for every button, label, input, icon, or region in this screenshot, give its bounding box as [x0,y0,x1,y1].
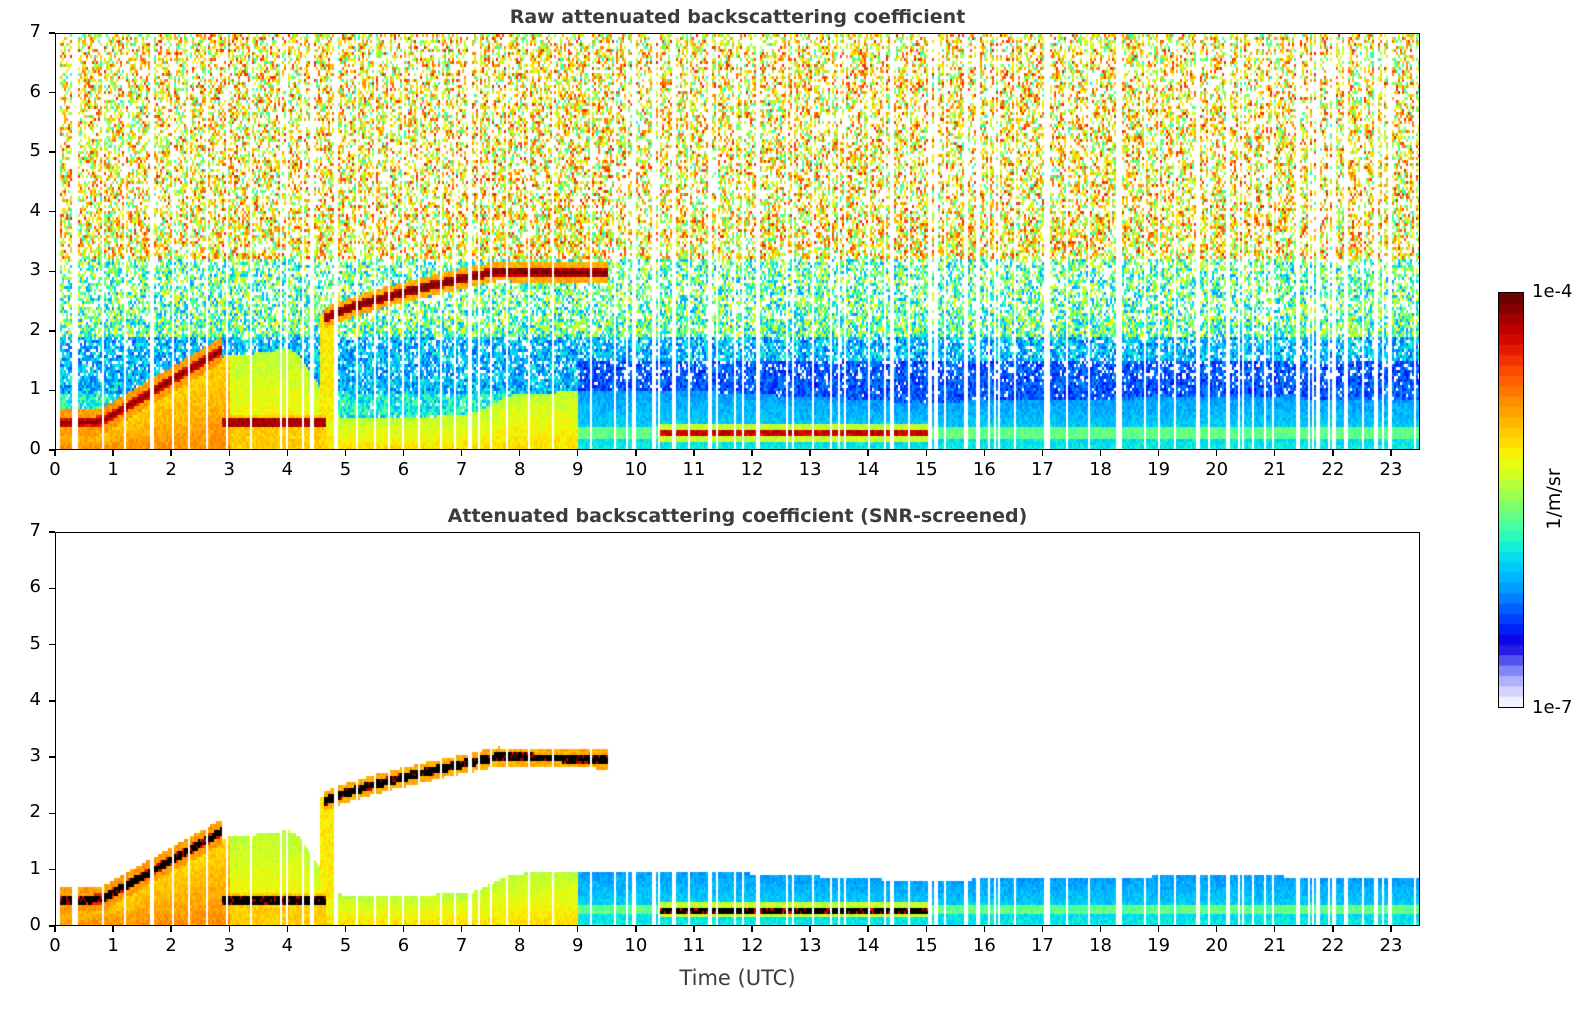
x-tick [751,450,752,456]
x-tick [54,926,55,932]
x-tick [461,926,462,932]
x-tick-label: 9 [558,935,598,956]
y-tick-label: 7 [7,520,41,541]
x-tick [287,926,288,932]
x-tick [1216,926,1217,932]
x-tick [867,926,868,932]
y-tick [49,271,55,272]
x-tick [54,450,55,456]
y-tick [49,32,55,33]
x-tick-label: 22 [1313,459,1353,480]
y-tick [49,644,55,645]
figure-canvas: Raw attenuated backscattering coefficien… [0,0,1595,1020]
x-tick [403,450,404,456]
x-tick-label: 16 [964,459,1004,480]
x-tick-label: 1 [93,935,133,956]
x-tick [345,450,346,456]
x-tick-label: 4 [267,935,307,956]
x-tick-label: 21 [1255,935,1295,956]
y-tick [49,925,55,926]
x-tick [1390,926,1391,932]
x-tick-label: 15 [906,459,946,480]
x-tick-label: 14 [848,935,888,956]
x-tick-label: 4 [267,459,307,480]
x-tick [1158,450,1159,456]
x-tick [751,926,752,932]
y-tick-label: 7 [7,21,41,42]
x-tick-label: 10 [616,459,656,480]
x-tick [1390,450,1391,456]
x-tick-label: 23 [1371,459,1411,480]
x-tick [345,926,346,932]
x-tick [1042,926,1043,932]
colorbar-tick-min: 1e-7 [1532,697,1572,718]
y-tick-label: 3 [7,259,41,280]
plot-area-snr-screened[interactable] [55,532,1420,926]
y-tick [49,588,55,589]
x-tick-label: 6 [384,935,424,956]
x-tick-label: 1 [93,459,133,480]
x-tick [809,450,810,456]
x-tick-label: 13 [790,935,830,956]
x-tick [809,926,810,932]
y-tick [49,330,55,331]
y-tick [49,211,55,212]
x-tick-label: 0 [35,935,75,956]
panel-title-raw: Raw attenuated backscattering coefficien… [55,6,1420,28]
y-tick-label: 1 [7,858,41,879]
x-tick-label: 3 [209,935,249,956]
x-tick-label: 7 [442,935,482,956]
y-tick [49,92,55,93]
x-tick-label: 22 [1313,935,1353,956]
y-tick-label: 2 [7,801,41,822]
y-tick-label: 0 [7,438,41,459]
y-tick-label: 6 [7,81,41,102]
x-tick [112,450,113,456]
x-tick [229,450,230,456]
x-tick-label: 11 [674,459,714,480]
x-tick-label: 23 [1371,935,1411,956]
x-tick-label: 14 [848,459,888,480]
x-tick [1100,450,1101,456]
x-tick-label: 12 [732,935,772,956]
x-tick-label: 8 [500,935,540,956]
x-tick [635,450,636,456]
x-tick [984,450,985,456]
x-tick [1100,926,1101,932]
x-tick [1216,450,1217,456]
x-tick-label: 17 [1022,459,1062,480]
x-tick-label: 3 [209,459,249,480]
y-tick-label: 4 [7,689,41,710]
x-tick [693,450,694,456]
x-tick [984,926,985,932]
panel-title-snr-screened: Attenuated backscattering coefficient (S… [55,505,1420,527]
x-tick [1274,926,1275,932]
y-tick [49,151,55,152]
x-tick [926,450,927,456]
plot-area-raw[interactable] [55,33,1420,450]
x-tick [519,926,520,932]
x-tick-label: 8 [500,459,540,480]
x-tick [1158,926,1159,932]
x-tick-label: 15 [906,935,946,956]
x-tick [170,450,171,456]
colorbar-unit-label: 1/m/sr [1543,439,1565,559]
x-tick-label: 18 [1081,935,1121,956]
y-tick [49,700,55,701]
colorbar [1498,292,1524,708]
x-tick-label: 12 [732,459,772,480]
y-tick [49,390,55,391]
x-tick-label: 20 [1197,935,1237,956]
y-tick-label: 2 [7,319,41,340]
x-tick [229,926,230,932]
x-tick-label: 20 [1197,459,1237,480]
x-tick-label: 19 [1139,935,1179,956]
x-tick-label: 21 [1255,459,1295,480]
x-tick-label: 9 [558,459,598,480]
x-tick-label: 16 [964,935,1004,956]
x-tick-label: 0 [35,459,75,480]
x-tick [461,450,462,456]
x-tick-label: 6 [384,459,424,480]
x-tick-label: 7 [442,459,482,480]
x-tick [287,450,288,456]
x-tick [635,926,636,932]
y-tick [49,531,55,532]
x-tick-label: 13 [790,459,830,480]
x-tick [1042,450,1043,456]
x-tick-label: 17 [1022,935,1062,956]
x-tick [1274,450,1275,456]
y-tick [49,869,55,870]
x-tick-label: 2 [151,935,191,956]
x-tick-label: 19 [1139,459,1179,480]
y-tick-label: 3 [7,745,41,766]
x-tick [693,926,694,932]
x-tick [926,926,927,932]
x-tick-label: 5 [325,935,365,956]
y-tick-label: 1 [7,378,41,399]
x-tick [403,926,404,932]
y-tick [49,813,55,814]
x-tick [519,450,520,456]
colorbar-tick-max: 1e-4 [1532,281,1572,302]
x-tick-label: 5 [325,459,365,480]
x-tick [867,450,868,456]
x-axis-label-time: Time (UTC) [55,966,1420,990]
x-tick-label: 11 [674,935,714,956]
y-tick [49,449,55,450]
x-tick-label: 10 [616,935,656,956]
x-tick-label: 18 [1081,459,1121,480]
x-tick [1332,450,1333,456]
x-tick [1332,926,1333,932]
x-tick [577,926,578,932]
y-tick-label: 4 [7,200,41,221]
x-tick [112,926,113,932]
x-tick [577,450,578,456]
x-tick [170,926,171,932]
y-tick-label: 5 [7,140,41,161]
y-tick-label: 0 [7,914,41,935]
y-tick-label: 5 [7,633,41,654]
x-tick-label: 2 [151,459,191,480]
y-tick [49,756,55,757]
y-tick-label: 6 [7,576,41,597]
